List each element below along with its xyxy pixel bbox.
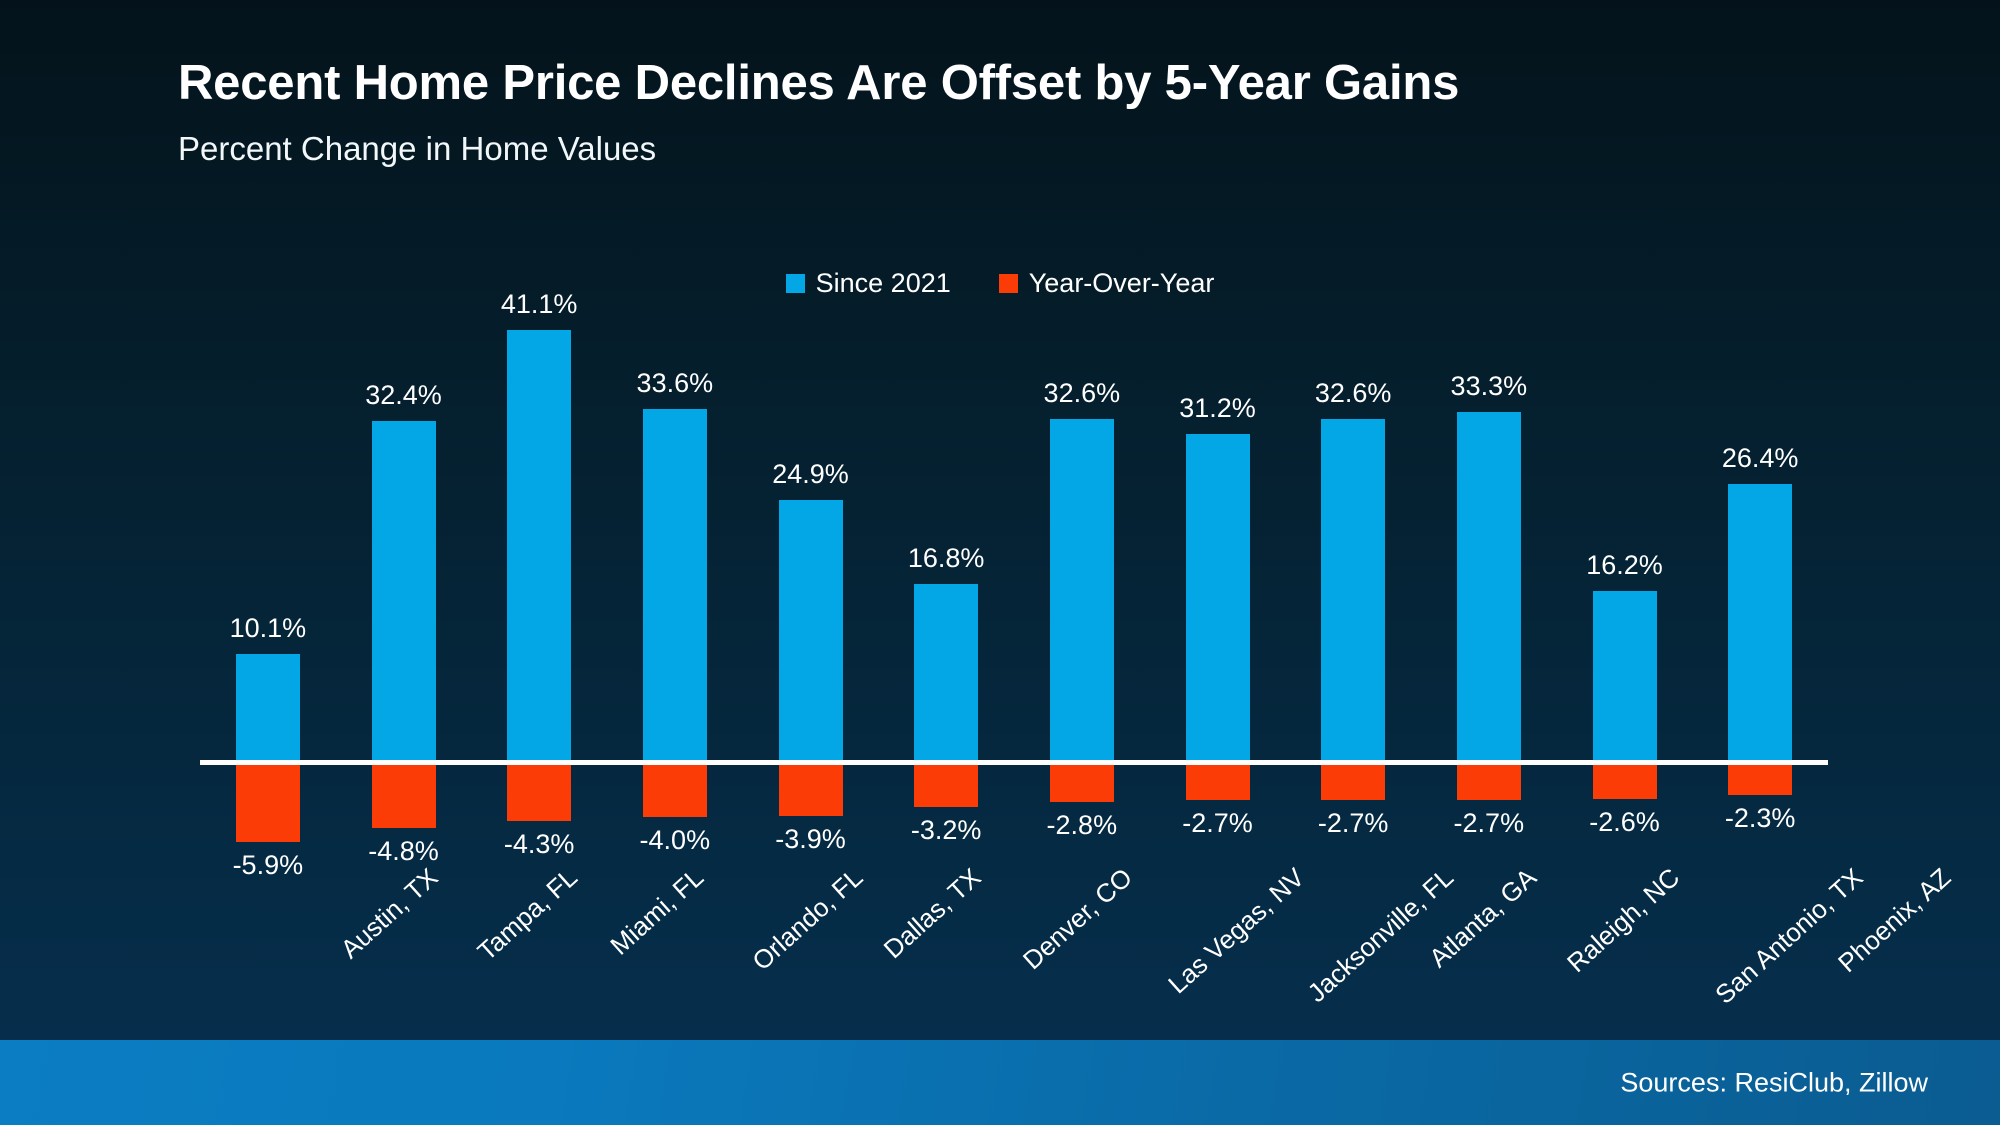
bar-value-label-since-2021: 26.4% (1680, 445, 1840, 472)
category-label: Orlando, FL (746, 862, 869, 977)
bar-since-2021[interactable] (372, 421, 436, 760)
bar-year-over-year[interactable] (372, 765, 436, 828)
bar-value-label-since-2021: 16.2% (1545, 552, 1705, 579)
category-label: Miami, FL (604, 862, 710, 961)
bar-since-2021[interactable] (1321, 419, 1385, 760)
category-label: Las Vegas, NV (1162, 862, 1311, 1000)
bar-since-2021[interactable] (1728, 484, 1792, 760)
category-label: Jacksonville, FL (1301, 862, 1459, 1009)
bar-since-2021[interactable] (1186, 434, 1250, 760)
bar-value-label-since-2021: 24.9% (731, 461, 891, 488)
bar-year-over-year[interactable] (643, 765, 707, 817)
bar-year-over-year[interactable] (236, 765, 300, 842)
legend-item-2[interactable]: Year-Over-Year (999, 268, 1215, 299)
legend-item-1[interactable]: Since 2021 (786, 268, 951, 299)
category-axis-labels: Austin, TXTampa, FLMiami, FLOrlando, FLD… (200, 862, 1828, 1032)
bar-value-label-since-2021: 32.4% (324, 382, 484, 409)
bar-year-over-year[interactable] (779, 765, 843, 816)
bar-year-over-year[interactable] (1593, 765, 1657, 799)
bar-value-label-since-2021: 10.1% (188, 615, 348, 642)
bar-value-label-since-2021: 41.1% (459, 291, 619, 318)
bar-value-label-since-2021: 16.8% (866, 545, 1026, 572)
bar-year-over-year[interactable] (1321, 765, 1385, 800)
bar-since-2021[interactable] (1457, 412, 1521, 760)
chart-slide: Recent Home Price Declines Are Offset by… (0, 0, 2000, 1125)
legend-label: Year-Over-Year (1029, 268, 1215, 299)
bar-since-2021[interactable] (236, 654, 300, 760)
bar-year-over-year[interactable] (507, 765, 571, 821)
chart-legend: Since 2021Year-Over-Year (0, 268, 2000, 299)
category-label: Raleigh, NC (1561, 862, 1686, 979)
bar-value-label-year-over-year: -2.3% (1680, 805, 1840, 832)
page-title: Recent Home Price Declines Are Offset by… (178, 58, 1878, 109)
bar-year-over-year[interactable] (1728, 765, 1792, 795)
bar-since-2021[interactable] (914, 584, 978, 760)
bar-since-2021[interactable] (643, 409, 707, 760)
bar-since-2021[interactable] (1050, 419, 1114, 760)
legend-square-icon (999, 274, 1018, 293)
bar-year-over-year[interactable] (1186, 765, 1250, 800)
plot-area-positive: 10.1%32.4%41.1%33.6%24.9%16.8%32.6%31.2%… (200, 300, 1828, 760)
bar-since-2021[interactable] (1593, 591, 1657, 760)
bar-year-over-year[interactable] (1457, 765, 1521, 800)
bar-year-over-year[interactable] (1050, 765, 1114, 802)
page-subtitle: Percent Change in Home Values (178, 131, 1878, 167)
bar-value-label-since-2021: 33.3% (1409, 373, 1569, 400)
sources-text: Sources: ResiClub, Zillow (1620, 1067, 1928, 1098)
bar-since-2021[interactable] (507, 330, 571, 760)
bar-year-over-year[interactable] (914, 765, 978, 807)
footer-band: Sources: ResiClub, Zillow (0, 1040, 2000, 1125)
legend-square-icon (786, 274, 805, 293)
category-label: Austin, TX (335, 862, 445, 965)
bar-since-2021[interactable] (779, 500, 843, 760)
header-block: Recent Home Price Declines Are Offset by… (178, 58, 1878, 168)
category-label: Tampa, FL (471, 862, 583, 967)
category-label: Dallas, TX (877, 862, 987, 965)
bar-value-label-since-2021: 33.6% (595, 370, 755, 397)
category-label: Denver, CO (1017, 862, 1139, 976)
legend-label: Since 2021 (816, 268, 951, 299)
category-label: San Antonio, TX (1709, 862, 1869, 1010)
